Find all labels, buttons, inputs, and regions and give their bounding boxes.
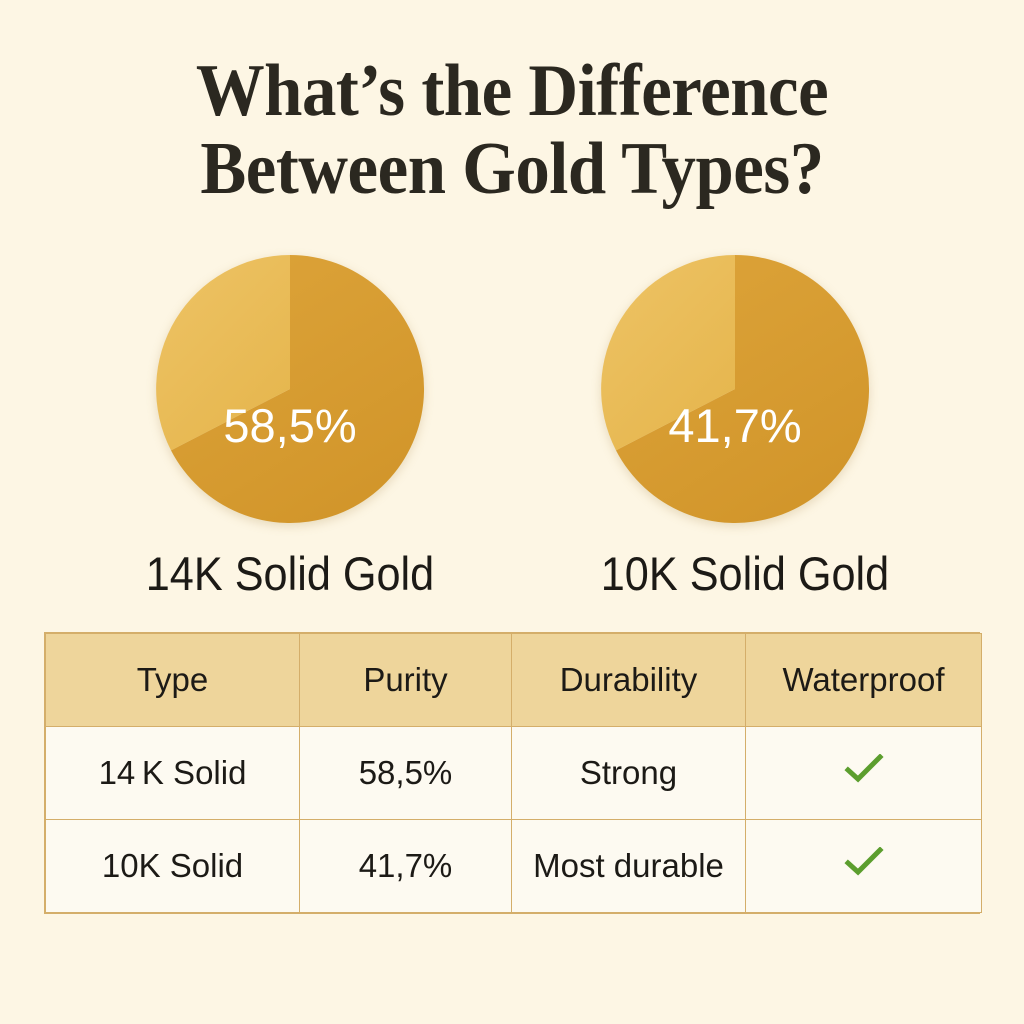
pie-chart-10k-wrapper: 41,7% [594,248,876,530]
pie-caption-row: 14K Solid Gold 10K Solid Gold [0,546,1024,606]
cell-durability: Strong [512,727,746,820]
page-title: What’s the Difference Between Gold Types… [0,52,1024,208]
page-title-line-1: What’s the Difference [36,52,988,130]
cell-purity: 58,5% [300,727,512,820]
pie-chart-14k-wrapper: 58,5% [149,248,431,530]
check-icon [844,847,884,877]
pie-chart-10k: 41,7% [585,248,885,548]
table-header-row: Type Purity Durability Waterproof [46,634,982,727]
table-row: 14 K Solid 58,5% Strong [46,727,982,820]
column-header-type: Type [46,634,300,727]
page-title-line-2: Between Gold Types? [36,130,988,208]
comparison-table: Type Purity Durability Waterproof 14 K S… [44,632,980,914]
check-icon [844,754,884,784]
pie-caption-10k: 10K Solid Gold [543,546,948,601]
pie-chart-14k: 58,5% [140,248,440,548]
cell-purity: 41,7% [300,820,512,913]
cell-waterproof [746,727,982,820]
column-header-purity: Purity [300,634,512,727]
cell-type: 10K Solid [46,820,300,913]
pie-chart-14k-svg [149,248,431,530]
cell-waterproof [746,820,982,913]
cell-durability: Most durable [512,820,746,913]
column-header-waterproof: Waterproof [746,634,982,727]
cell-type: 14 K Solid [46,727,300,820]
column-header-durability: Durability [512,634,746,727]
infographic-canvas: What’s the Difference Between Gold Types… [0,0,1024,1024]
pie-chart-row: 58,5% [0,248,1024,548]
table-row: 10K Solid 41,7% Most durable [46,820,982,913]
pie-caption-14k: 14K Solid Gold [88,546,493,601]
pie-chart-10k-svg [594,248,876,530]
